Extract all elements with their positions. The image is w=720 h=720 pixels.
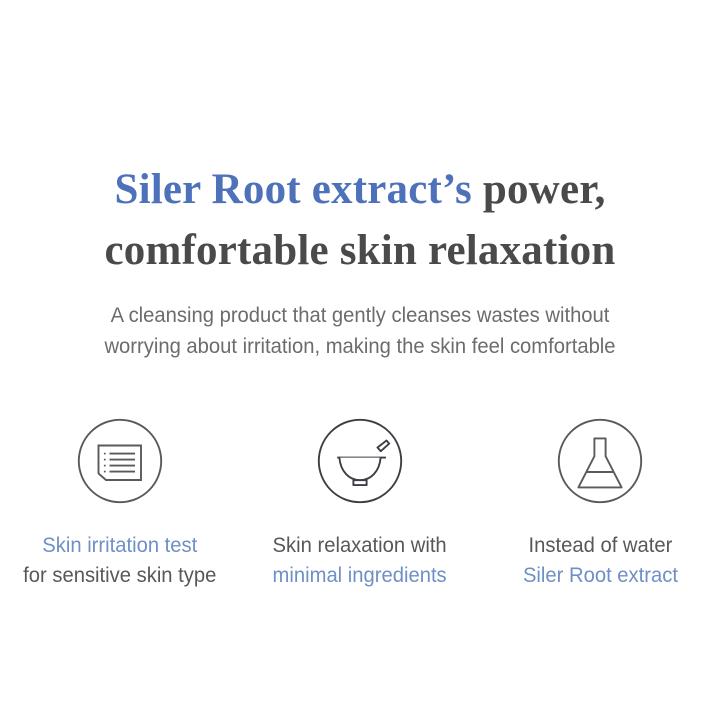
headline-highlight-text: Siler Root extract’s xyxy=(114,166,471,213)
feature-caption-2: Skin relaxation with minimal ingredients xyxy=(273,530,447,590)
headline-line-1-rest: power, xyxy=(472,166,606,213)
mortar-and-pestle-icon xyxy=(317,418,403,504)
feature-item-siler-root-extract: Instead of water Siler Root extract xyxy=(480,418,720,590)
feature-list: Skin irritation test for sensitive skin … xyxy=(0,418,720,590)
document-checklist-icon xyxy=(77,418,163,504)
feature-caption-3-primary: Instead of water xyxy=(522,530,677,560)
product-feature-panel: Siler Root extract’s power, comfortable … xyxy=(0,0,720,720)
feature-caption-2-secondary: minimal ingredients xyxy=(273,560,447,590)
feature-caption-1-primary: Skin irritation test xyxy=(23,530,216,560)
subtitle-line-1: A cleansing product that gently cleanses… xyxy=(22,300,699,331)
headline-line-1: Siler Root extract’s power, xyxy=(0,159,720,220)
erlenmeyer-flask-icon xyxy=(557,418,643,504)
feature-caption-1: Skin irritation test for sensitive skin … xyxy=(23,530,216,590)
feature-item-skin-irritation-test: Skin irritation test for sensitive skin … xyxy=(0,418,240,590)
headline-line-2: comfortable skin relaxation xyxy=(0,220,720,281)
feature-caption-1-secondary: for sensitive skin type xyxy=(23,560,216,590)
subtitle: A cleansing product that gently cleanses… xyxy=(22,300,699,362)
feature-caption-2-primary: Skin relaxation with xyxy=(273,530,447,560)
feature-item-minimal-ingredients: Skin relaxation with minimal ingredients xyxy=(240,418,480,590)
subtitle-line-2: worrying about irritation, making the sk… xyxy=(22,331,699,362)
feature-caption-3-secondary: Siler Root extract xyxy=(522,560,677,590)
feature-caption-3: Instead of water Siler Root extract xyxy=(522,530,677,590)
headline: Siler Root extract’s power, comfortable … xyxy=(0,159,720,281)
